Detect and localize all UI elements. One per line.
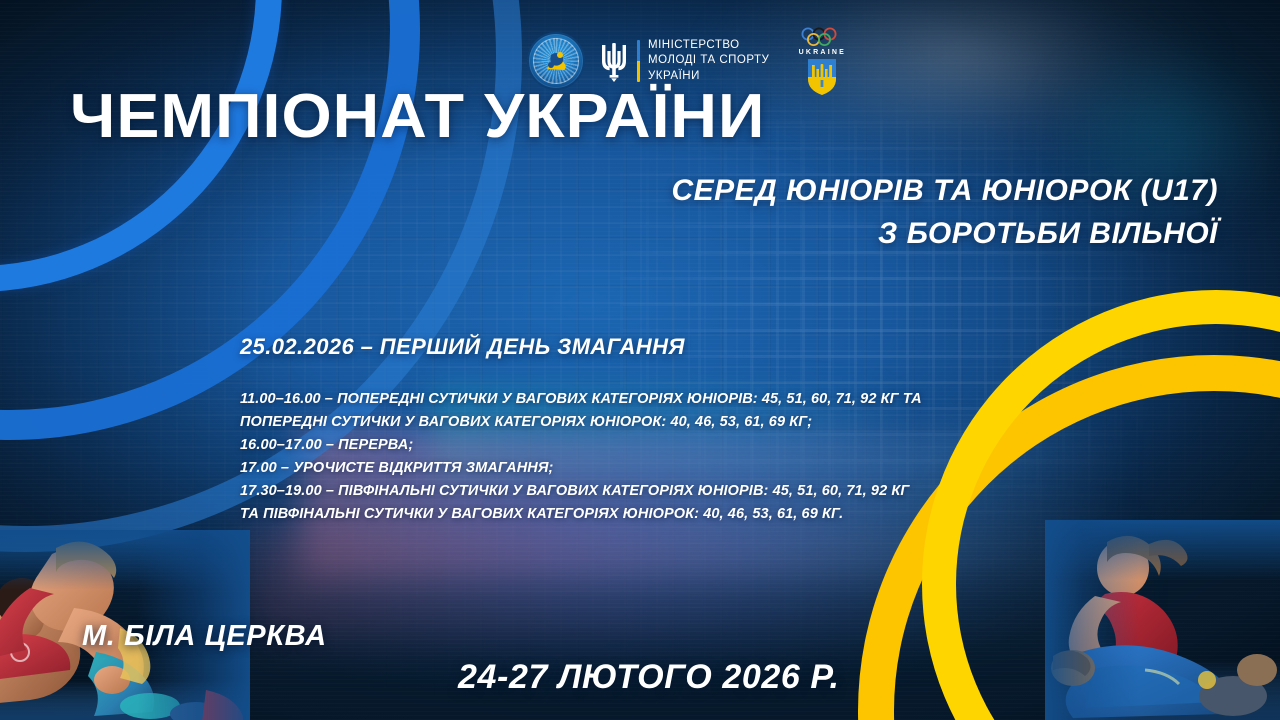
schedule-line: 17.00 – УРОЧИСТЕ ВІДКРИТТЯ ЗМАГАННЯ; bbox=[240, 457, 1000, 480]
schedule-line: ПОПЕРЕДНІ СУТИЧКИ У ВАГОВИХ КАТЕГОРІЯХ Ю… bbox=[240, 411, 1000, 434]
city-label: М. БІЛА ЦЕРКВА bbox=[82, 620, 327, 653]
ministry-divider bbox=[637, 40, 640, 82]
ministry-name: МІНІСТЕРСТВО МОЛОДІ ТА СПОРТУ УКРАЇНИ bbox=[648, 38, 769, 85]
ukraine-shield-trident-icon bbox=[807, 58, 837, 96]
subtitle: СЕРЕД ЮНІОРІВ ТА ЮНІОРОК (U17) З БОРОТЬБ… bbox=[671, 170, 1218, 255]
subtitle-line-2: З БОРОТЬБИ ВІЛЬНОЇ bbox=[671, 213, 1218, 256]
olympic-label: UKRAINE bbox=[799, 49, 846, 56]
subtitle-line-1: СЕРЕД ЮНІОРІВ ТА ЮНІОРОК (U17) bbox=[671, 170, 1218, 213]
schedule-heading: 25.02.2026 – ПЕРШИЙ ДЕНЬ ЗМАГАННЯ bbox=[240, 334, 685, 360]
ministry-line-2: МОЛОДІ ТА СПОРТУ bbox=[648, 53, 769, 69]
photo-left-fade bbox=[1045, 520, 1280, 720]
emblem-wrestlers-figure bbox=[543, 49, 569, 75]
female-wrestlers-photo bbox=[1045, 520, 1280, 720]
ukrainian-trident-icon bbox=[599, 39, 629, 83]
national-olympic-committee-logo: UKRAINE bbox=[791, 27, 853, 96]
schedule-line: ТА ПІВФІНАЛЬНІ СУТИЧКИ У ВАГОВИХ КАТЕГОР… bbox=[240, 503, 1000, 526]
ministry-logo: МІНІСТЕРСТВО МОЛОДІ ТА СПОРТУ УКРАЇНИ bbox=[599, 38, 769, 85]
dates-label: 24-27 ЛЮТОГО 2026 Р. bbox=[458, 658, 840, 697]
tournament-poster: МІНІСТЕРСТВО МОЛОДІ ТА СПОРТУ УКРАЇНИ UK… bbox=[0, 0, 1280, 720]
schedule-line: 17.30–19.00 – ПІВФІНАЛЬНІ СУТИЧКИ У ВАГО… bbox=[240, 480, 1000, 503]
ministry-line-1: МІНІСТЕРСТВО bbox=[648, 38, 769, 54]
page-title: ЧЕМПІОНАТ УКРАЇНИ bbox=[70, 86, 765, 148]
schedule-body: 11.00–16.00 – ПОПЕРЕДНІ СУТИЧКИ У ВАГОВИ… bbox=[240, 388, 1000, 525]
olympic-rings-icon bbox=[800, 27, 844, 47]
schedule-line: 16.00–17.00 – ПЕРЕРВА; bbox=[240, 434, 1000, 457]
schedule-line: 11.00–16.00 – ПОПЕРЕДНІ СУТИЧКИ У ВАГОВИ… bbox=[240, 388, 1000, 411]
